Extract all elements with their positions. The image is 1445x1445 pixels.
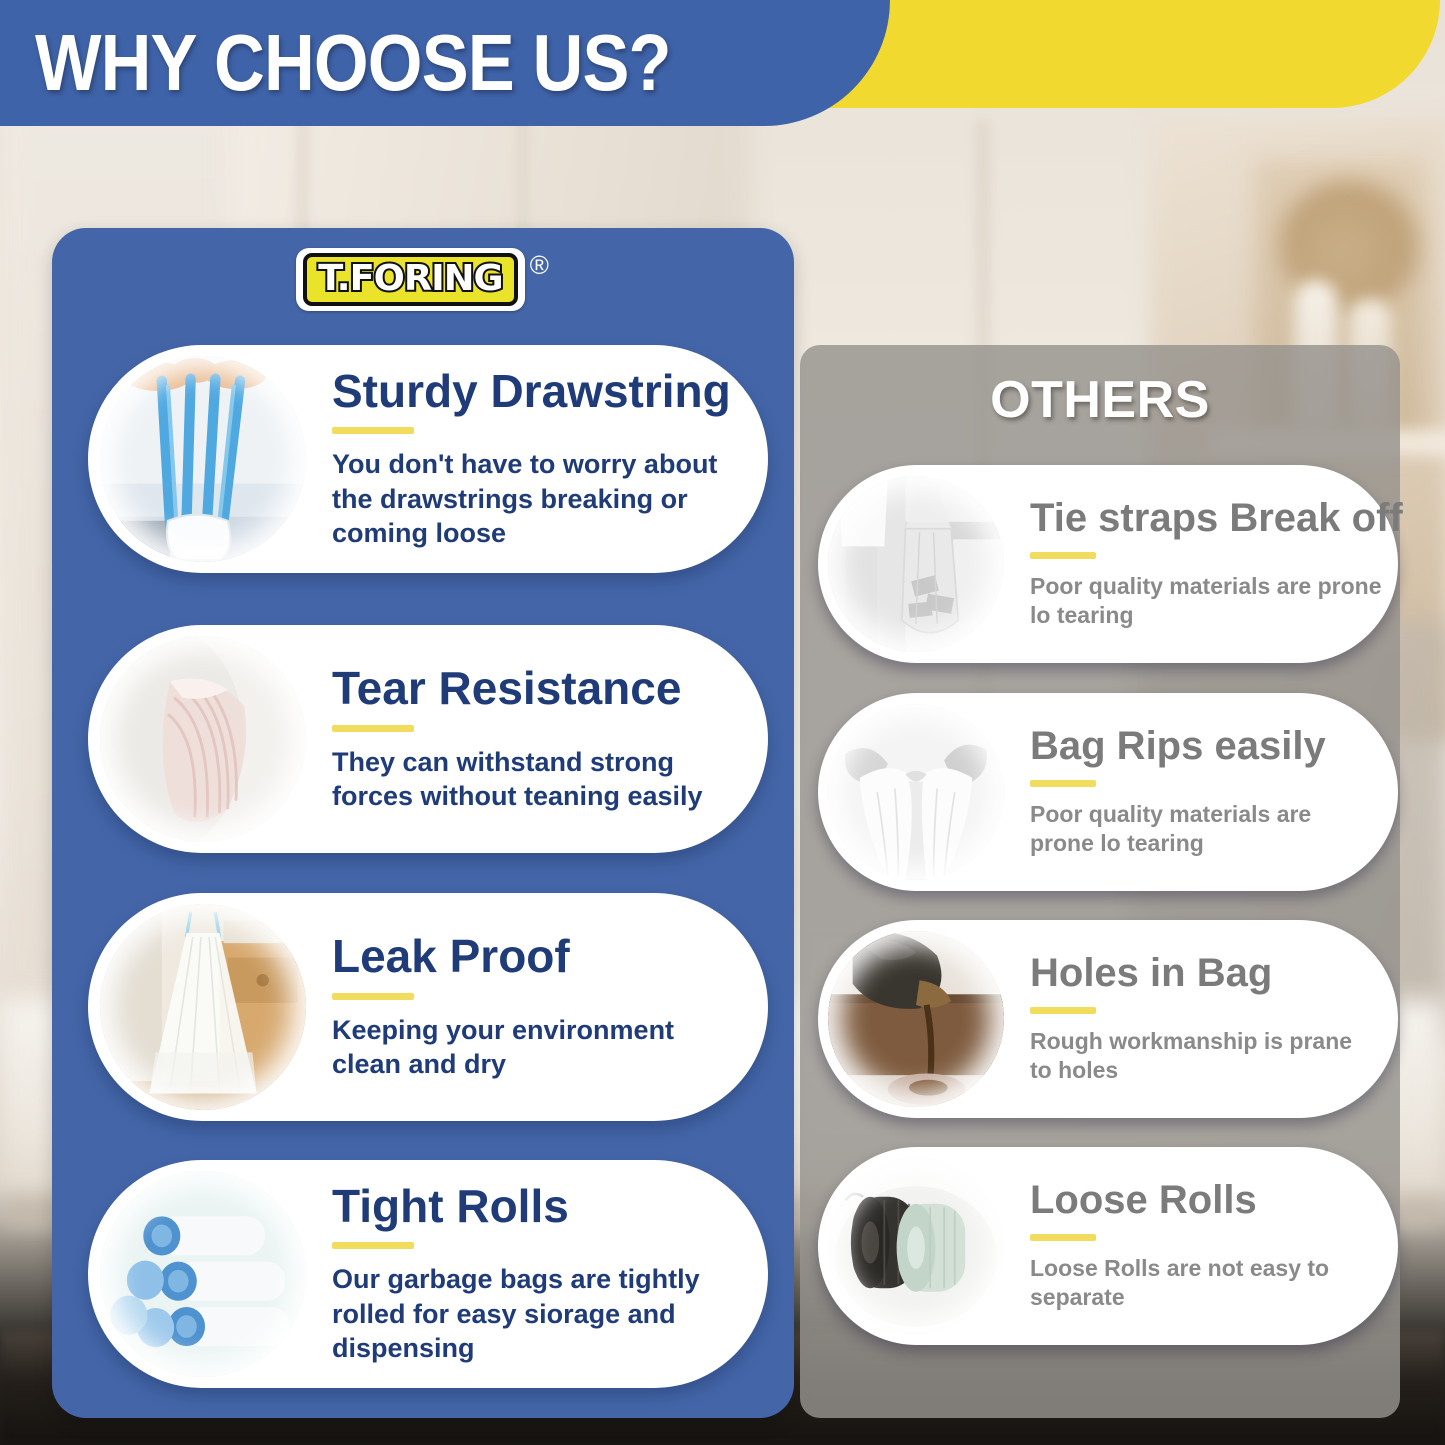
registered-trademark-icon: ® xyxy=(530,252,549,278)
drawback-card[interactable]: Loose Rolls Loose Rolls are not easy to … xyxy=(818,1147,1398,1345)
stretched-plastic-film-photo xyxy=(100,636,306,842)
title-divider xyxy=(332,993,414,1000)
card-title: Tear Resistance xyxy=(332,665,750,713)
drawback-card[interactable]: Holes in Bag Rough workmanship is prane … xyxy=(818,920,1398,1118)
page-title: WHY CHOOSE US? xyxy=(35,17,671,109)
card-description: You don't have to worry about the drawst… xyxy=(332,447,750,550)
drawback-card[interactable]: Tie straps Break off Poor quality materi… xyxy=(818,465,1398,663)
card-title: Sturdy Drawstring xyxy=(332,368,750,416)
card-body: Bag Rips easily Poor quality materials a… xyxy=(1004,726,1398,858)
feature-card[interactable]: Leak Proof Keeping your environment clea… xyxy=(88,893,768,1121)
hands-ripping-bag-photo xyxy=(828,704,1004,880)
others-heading: OTHERS xyxy=(800,370,1400,430)
hanging-white-bag-photo xyxy=(100,904,306,1110)
card-description: Keeping your environment clean and dry xyxy=(332,1013,750,1082)
title-divider xyxy=(1030,552,1096,559)
card-body: Sturdy Drawstring You don't have to worr… xyxy=(306,368,768,551)
card-description: Rough workmanship is prane to holes xyxy=(1030,1027,1380,1085)
title-divider xyxy=(332,1242,414,1249)
card-description: Poor quality materials are prone lo tear… xyxy=(1030,572,1403,630)
title-divider xyxy=(1030,780,1096,787)
stacked-bag-rolls-photo xyxy=(100,1171,306,1377)
card-description: Loose Rolls are not easy to separate xyxy=(1030,1254,1380,1312)
card-body: Tie straps Break off Poor quality materi… xyxy=(1004,498,1421,630)
drawback-card[interactable]: Bag Rips easily Poor quality materials a… xyxy=(818,693,1398,891)
logo-text: T.FORING xyxy=(318,261,502,297)
title-divider xyxy=(1030,1007,1096,1014)
card-title: Leak Proof xyxy=(332,933,750,981)
card-title: Tie straps Break off xyxy=(1030,498,1403,540)
title-divider xyxy=(332,725,414,732)
feature-card[interactable]: Tight Rolls Our garbage bags are tightly… xyxy=(88,1160,768,1388)
card-body: Holes in Bag Rough workmanship is prane … xyxy=(1004,953,1398,1085)
card-body: Tear Resistance They can withstand stron… xyxy=(306,665,768,813)
blue-drawstring-bag-photo xyxy=(100,356,306,562)
feature-card[interactable]: Sturdy Drawstring You don't have to worr… xyxy=(88,345,768,573)
title-divider xyxy=(1030,1234,1096,1241)
card-description: They can withstand strong forces without… xyxy=(332,745,750,814)
logo-inner-plate: T.FORING xyxy=(303,253,518,306)
card-title: Bag Rips easily xyxy=(1030,726,1380,768)
title-divider xyxy=(332,427,414,434)
card-body: Tight Rolls Our garbage bags are tightly… xyxy=(306,1183,768,1366)
loose-bag-rolls-photo xyxy=(828,1158,1004,1334)
card-description: Poor quality materials are prone lo tear… xyxy=(1030,800,1380,858)
carried-clear-bag-photo xyxy=(828,476,1004,652)
feature-card[interactable]: Tear Resistance They can withstand stron… xyxy=(88,625,768,853)
card-body: Leak Proof Keeping your environment clea… xyxy=(306,933,768,1081)
card-description: Our garbage bags are tightly rolled for … xyxy=(332,1262,750,1365)
header-banner: WHY CHOOSE US? xyxy=(0,0,890,126)
logo-badge: T.FORING xyxy=(296,248,525,311)
brand-logo: T.FORING ® xyxy=(296,248,549,311)
card-title: Holes in Bag xyxy=(1030,953,1380,995)
card-body: Loose Rolls Loose Rolls are not easy to … xyxy=(1004,1180,1398,1312)
card-title: Tight Rolls xyxy=(332,1183,750,1231)
leaking-black-bag-photo xyxy=(828,931,1004,1107)
card-title: Loose Rolls xyxy=(1030,1180,1380,1222)
